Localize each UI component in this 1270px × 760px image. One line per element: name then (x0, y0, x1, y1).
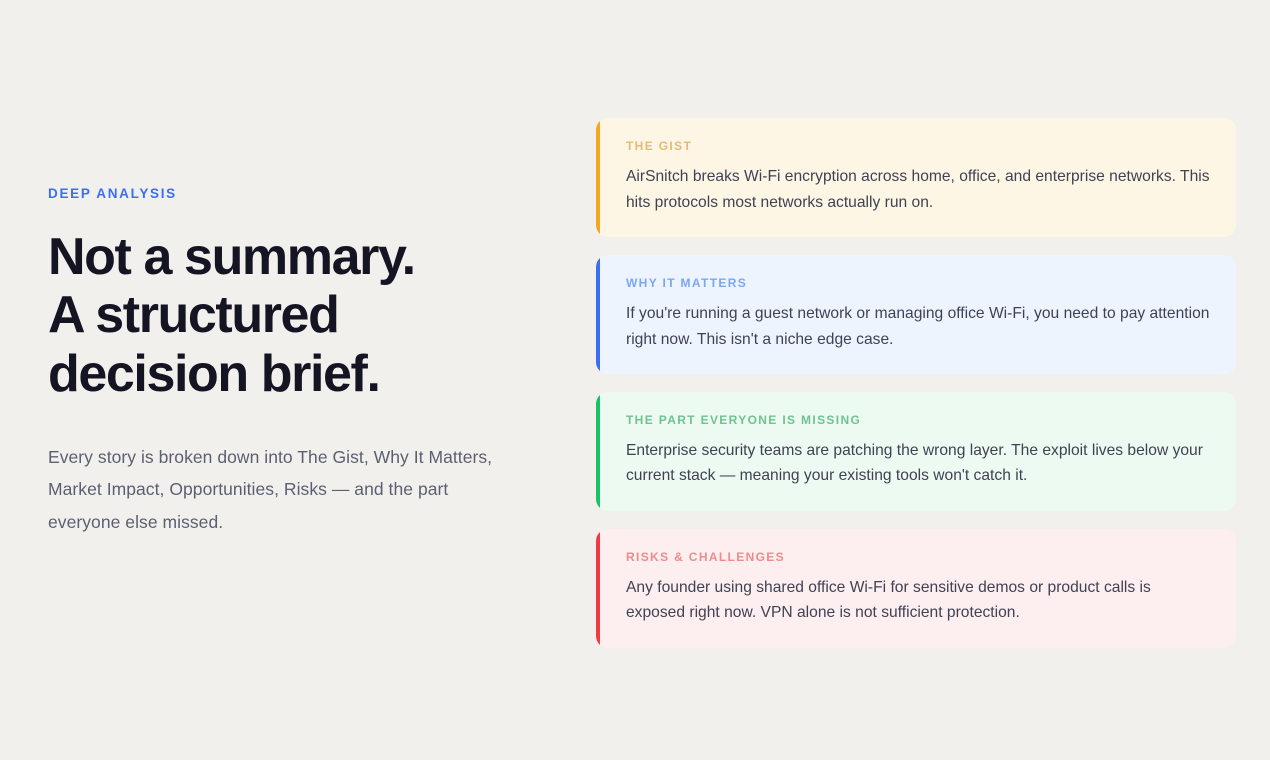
headline-line-2: A structured (48, 286, 518, 344)
brief-card-why-it-matters[interactable]: WHY IT MATTERS If you're running a guest… (596, 255, 1236, 374)
card-label: RISKS & CHALLENGES (626, 550, 1210, 564)
deep-analysis-page: DEEP ANALYSIS Not a summary. A structure… (0, 0, 1270, 760)
page-title: Not a summary. A structured decision bri… (48, 228, 518, 403)
card-body-text: AirSnitch breaks Wi-Fi encryption across… (626, 164, 1210, 215)
brief-card-the-gist[interactable]: THE GIST AirSnitch breaks Wi-Fi encrypti… (596, 118, 1236, 237)
headline-line-3: decision brief. (48, 345, 518, 403)
brief-card-risks-and-challenges[interactable]: RISKS & CHALLENGES Any founder using sha… (596, 529, 1236, 648)
brief-card-list: THE GIST AirSnitch breaks Wi-Fi encrypti… (596, 118, 1236, 648)
intro-description: Every story is broken down into The Gist… (48, 441, 508, 538)
card-label: THE GIST (626, 139, 1210, 153)
intro-column: DEEP ANALYSIS Not a summary. A structure… (48, 186, 518, 538)
brief-card-the-part-everyone-is-missing[interactable]: THE PART EVERYONE IS MISSING Enterprise … (596, 392, 1236, 511)
card-body-text: Enterprise security teams are patching t… (626, 438, 1210, 489)
card-body-text: If you're running a guest network or man… (626, 301, 1210, 352)
card-accent-bar (596, 255, 600, 374)
card-body-text: Any founder using shared office Wi-Fi fo… (626, 575, 1210, 626)
section-eyebrow: DEEP ANALYSIS (48, 186, 518, 202)
card-accent-bar (596, 392, 600, 511)
card-label: WHY IT MATTERS (626, 276, 1210, 290)
card-accent-bar (596, 118, 600, 237)
card-accent-bar (596, 529, 600, 648)
headline-line-1: Not a summary. (48, 228, 518, 286)
card-label: THE PART EVERYONE IS MISSING (626, 413, 1210, 427)
